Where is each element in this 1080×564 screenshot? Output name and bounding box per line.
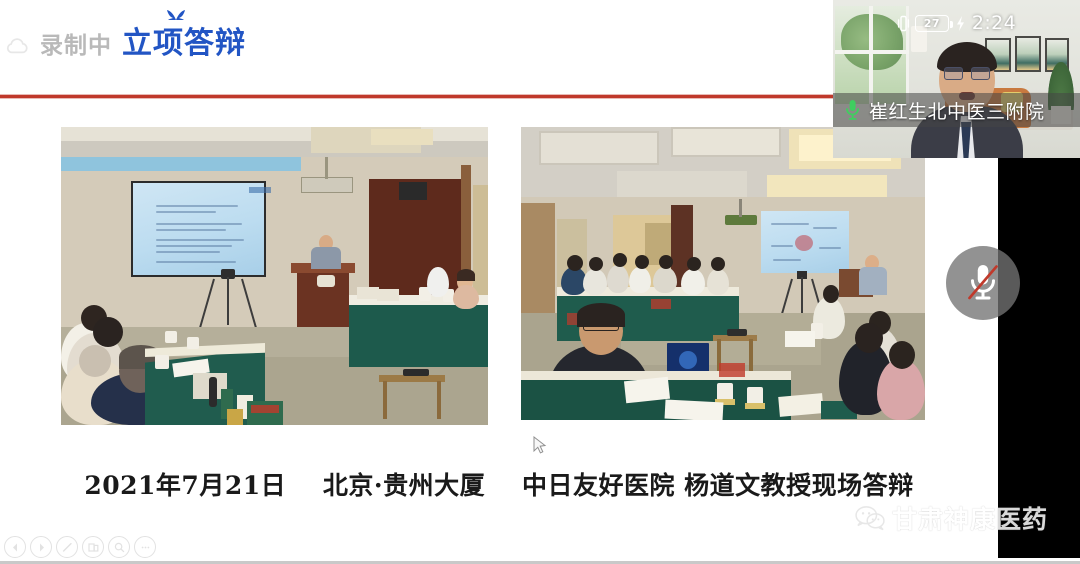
cloud-icon xyxy=(4,34,30,60)
participant-name-bar: 崔红生北中医三附院 xyxy=(833,93,1080,127)
microphone-muted-icon xyxy=(965,262,1001,304)
previous-slide-icon xyxy=(10,542,21,553)
phone-status-bar: 27 2:24 xyxy=(833,12,1080,34)
battery-level: 27 xyxy=(924,18,940,29)
microphone-on-icon xyxy=(845,99,860,121)
previous-slide-button[interactable] xyxy=(4,536,26,558)
mouse-pointer-icon xyxy=(533,436,547,455)
conference-room-audience-photo xyxy=(521,127,925,420)
more-options-button[interactable] xyxy=(134,536,156,558)
next-slide-button[interactable] xyxy=(30,536,52,558)
conference-room-presentation-photo xyxy=(61,127,488,425)
slide-caption: 2021年7月21日 北京·贵州大厦 中日友好医院 杨道文教授现场答辩 xyxy=(0,466,998,502)
magnifier-zoom-icon xyxy=(114,542,125,553)
mic-toggle-button[interactable] xyxy=(946,246,1020,320)
recording-badge: 录制中 xyxy=(40,35,112,60)
participant-name: 崔红生北中医三附院 xyxy=(869,97,1045,124)
zoom-button[interactable] xyxy=(108,536,130,558)
participant-video-tile[interactable]: 27 2:24 崔红生北中医三附院 xyxy=(833,0,1080,158)
letterbox-right xyxy=(998,158,1080,558)
battery-indicator: 27 xyxy=(915,15,949,32)
slide-grid-icon xyxy=(88,542,99,553)
charging-bolt-icon xyxy=(954,15,967,32)
annotate-button[interactable] xyxy=(56,536,78,558)
pen-annotate-icon xyxy=(62,542,73,553)
vibrate-icon xyxy=(897,15,910,32)
butterfly-logo-icon xyxy=(164,7,188,21)
eyeglasses-icon xyxy=(944,67,990,80)
slide-grid-button[interactable] xyxy=(82,536,104,558)
next-slide-icon xyxy=(36,542,47,553)
screen-share-viewport: 录制中 立项答辩 xyxy=(0,0,1080,564)
status-clock: 2:24 xyxy=(972,12,1016,34)
more-options-icon xyxy=(140,542,151,553)
slide-title: 立项答辩 xyxy=(122,28,246,60)
player-toolbar[interactable] xyxy=(4,536,156,558)
